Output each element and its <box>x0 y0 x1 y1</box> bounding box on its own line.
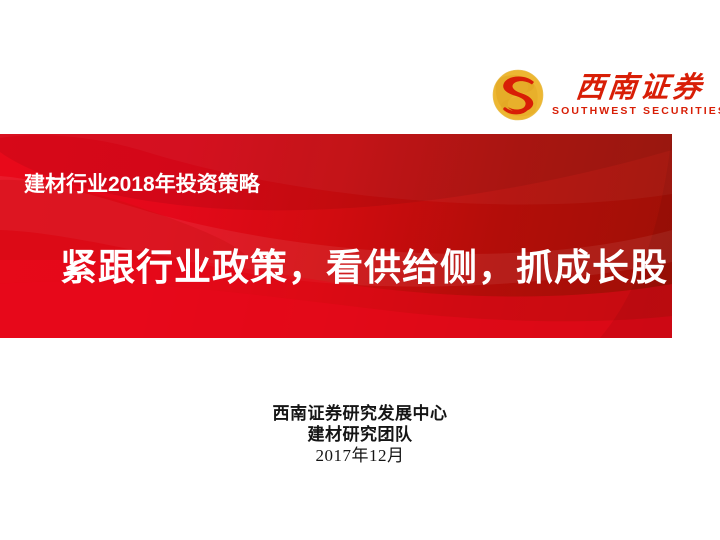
footer-date: 2017年12月 <box>0 445 720 467</box>
footer-organization: 西南证券研究发展中心 <box>0 403 720 424</box>
southwest-securities-globe-logo-icon <box>492 69 544 121</box>
brand-logo: 西南证券 SOUTHWEST SECURITIES <box>492 62 692 128</box>
footer-team: 建材研究团队 <box>0 424 720 445</box>
brand-name-chinese: 西南证券 <box>574 73 705 102</box>
brand-logo-wordmark: 西南证券 SOUTHWEST SECURITIES <box>552 73 720 117</box>
banner-swoosh-decoration <box>0 134 672 338</box>
banner-subtitle: 建材行业2018年投资策略 <box>24 168 260 198</box>
presentation-cover-slide: 西南证券 SOUTHWEST SECURITIES 建材行业2018年投资策略 … <box>0 0 720 540</box>
banner-main-title: 紧跟行业政策，看供给侧，抓成长股 <box>60 237 668 291</box>
footer-block: 西南证券研究发展中心 建材研究团队 2017年12月 <box>0 403 720 467</box>
brand-name-english: SOUTHWEST SECURITIES <box>552 106 720 117</box>
title-banner <box>0 134 672 338</box>
